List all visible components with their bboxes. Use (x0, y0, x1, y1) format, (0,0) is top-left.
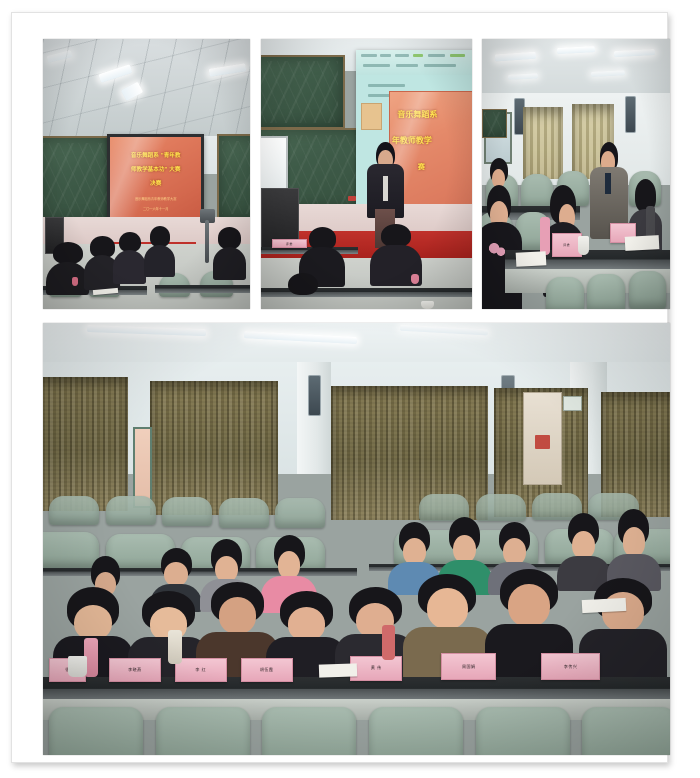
nameplate: 黄 伟 (350, 656, 402, 681)
nameplate: 李晓燕 (109, 658, 161, 682)
attendee (144, 226, 175, 276)
presenter-shirt (383, 176, 388, 201)
curtain (523, 107, 562, 180)
seat (219, 498, 269, 527)
collage-page: 音乐舞蹈系 "青年教 师教学基本功" 大赛 决赛 音乐舞蹈系青年教师教学大赛 二… (0, 0, 700, 778)
nameplate: 周国娟 (441, 653, 496, 679)
photo-1-scene: 音乐舞蹈系 "青年教 师教学基本功" 大赛 决赛 音乐舞蹈系青年教师教学大赛 二… (43, 39, 250, 309)
attendee (47, 241, 88, 294)
wall-speaker (625, 96, 636, 133)
paper-cup (578, 236, 589, 255)
thermos-bottle (168, 630, 182, 665)
paper-sheet (319, 664, 357, 678)
nameplate: 胡伍霞 (241, 658, 293, 682)
seat (156, 707, 250, 755)
attendee (113, 232, 146, 283)
fire-alarm (535, 435, 550, 449)
thermos-bottle (411, 274, 419, 284)
board-marker (348, 196, 356, 201)
photo-2-presenter-standing-before-screen[interactable]: 音乐舞蹈系 年教师教学 赛 (261, 39, 472, 309)
seat (262, 707, 356, 755)
attendee (213, 227, 246, 278)
seat (476, 707, 570, 755)
seat (369, 707, 463, 755)
thermos-bottle (72, 277, 78, 286)
seat (275, 498, 325, 527)
ppt-slide-thumbnail (361, 103, 383, 130)
ppt-toolbar-item (363, 64, 390, 67)
chalkboard (482, 109, 507, 138)
chalkboard-left (43, 136, 115, 224)
attendee-back (563, 513, 604, 586)
wall-sign (563, 396, 581, 411)
paper-sheet (515, 252, 546, 267)
ppt-toolbar-item (424, 64, 456, 67)
audience-rows (43, 233, 250, 309)
photo-1-classroom-audience-with-projection[interactable]: 音乐舞蹈系 "青年教 师教学基本功" 大赛 决赛 音乐舞蹈系青年教师教学大赛 二… (43, 39, 250, 309)
seat (162, 497, 212, 526)
ppt-outline-line (368, 84, 405, 87)
thermos-bottle (382, 625, 396, 660)
nameplate: 李 红 (175, 658, 227, 682)
photo-4-wide-audience-panorama[interactable]: 徐 李晓燕 李 红 胡伍霞 黄 伟 周国娟 李传兴 (43, 323, 670, 755)
speaker-collar (605, 173, 611, 194)
photo-2-scene: 音乐舞蹈系 年教师教学 赛 (261, 39, 472, 309)
desk (155, 285, 250, 293)
thermos-bottle (646, 206, 655, 238)
photo-3-scene: 评委 (482, 39, 670, 309)
chalkboard-upper (261, 55, 345, 129)
seat (587, 274, 625, 309)
paper-cup (68, 656, 87, 678)
ceiling-grid (43, 39, 250, 142)
seat (582, 707, 670, 755)
thermos-bottle (540, 217, 549, 255)
wall-speaker (308, 375, 321, 416)
paper-cup (421, 301, 434, 309)
ppt-slide-title-line-3: 赛 (418, 163, 472, 172)
nameplate: 李传兴 (541, 653, 599, 679)
projection-screen: 音乐舞蹈系 "青年教 师教学基本功" 大赛 决赛 音乐舞蹈系青年教师教学大赛 二… (107, 134, 204, 226)
paper-sheet (625, 235, 659, 250)
seat (49, 707, 143, 755)
photo-3-seated-jury-and-standing-speaker[interactable]: 评委 (482, 39, 670, 309)
seat (629, 271, 667, 309)
chalkboard-right (217, 134, 250, 222)
photo-4-scene: 徐 李晓燕 李 红 胡伍霞 黄 伟 周国娟 李传兴 (43, 323, 670, 755)
attendee (280, 273, 326, 309)
photo-card: 音乐舞蹈系 "青年教 师教学基本功" 大赛 决赛 音乐舞蹈系青年教师教学大赛 二… (11, 12, 668, 763)
audience-rows: 评委 (261, 233, 472, 309)
seat (106, 496, 156, 525)
ppt-toolbar-item (396, 64, 418, 67)
attendee-back (614, 509, 655, 587)
seat (546, 277, 584, 309)
seat (49, 496, 99, 525)
